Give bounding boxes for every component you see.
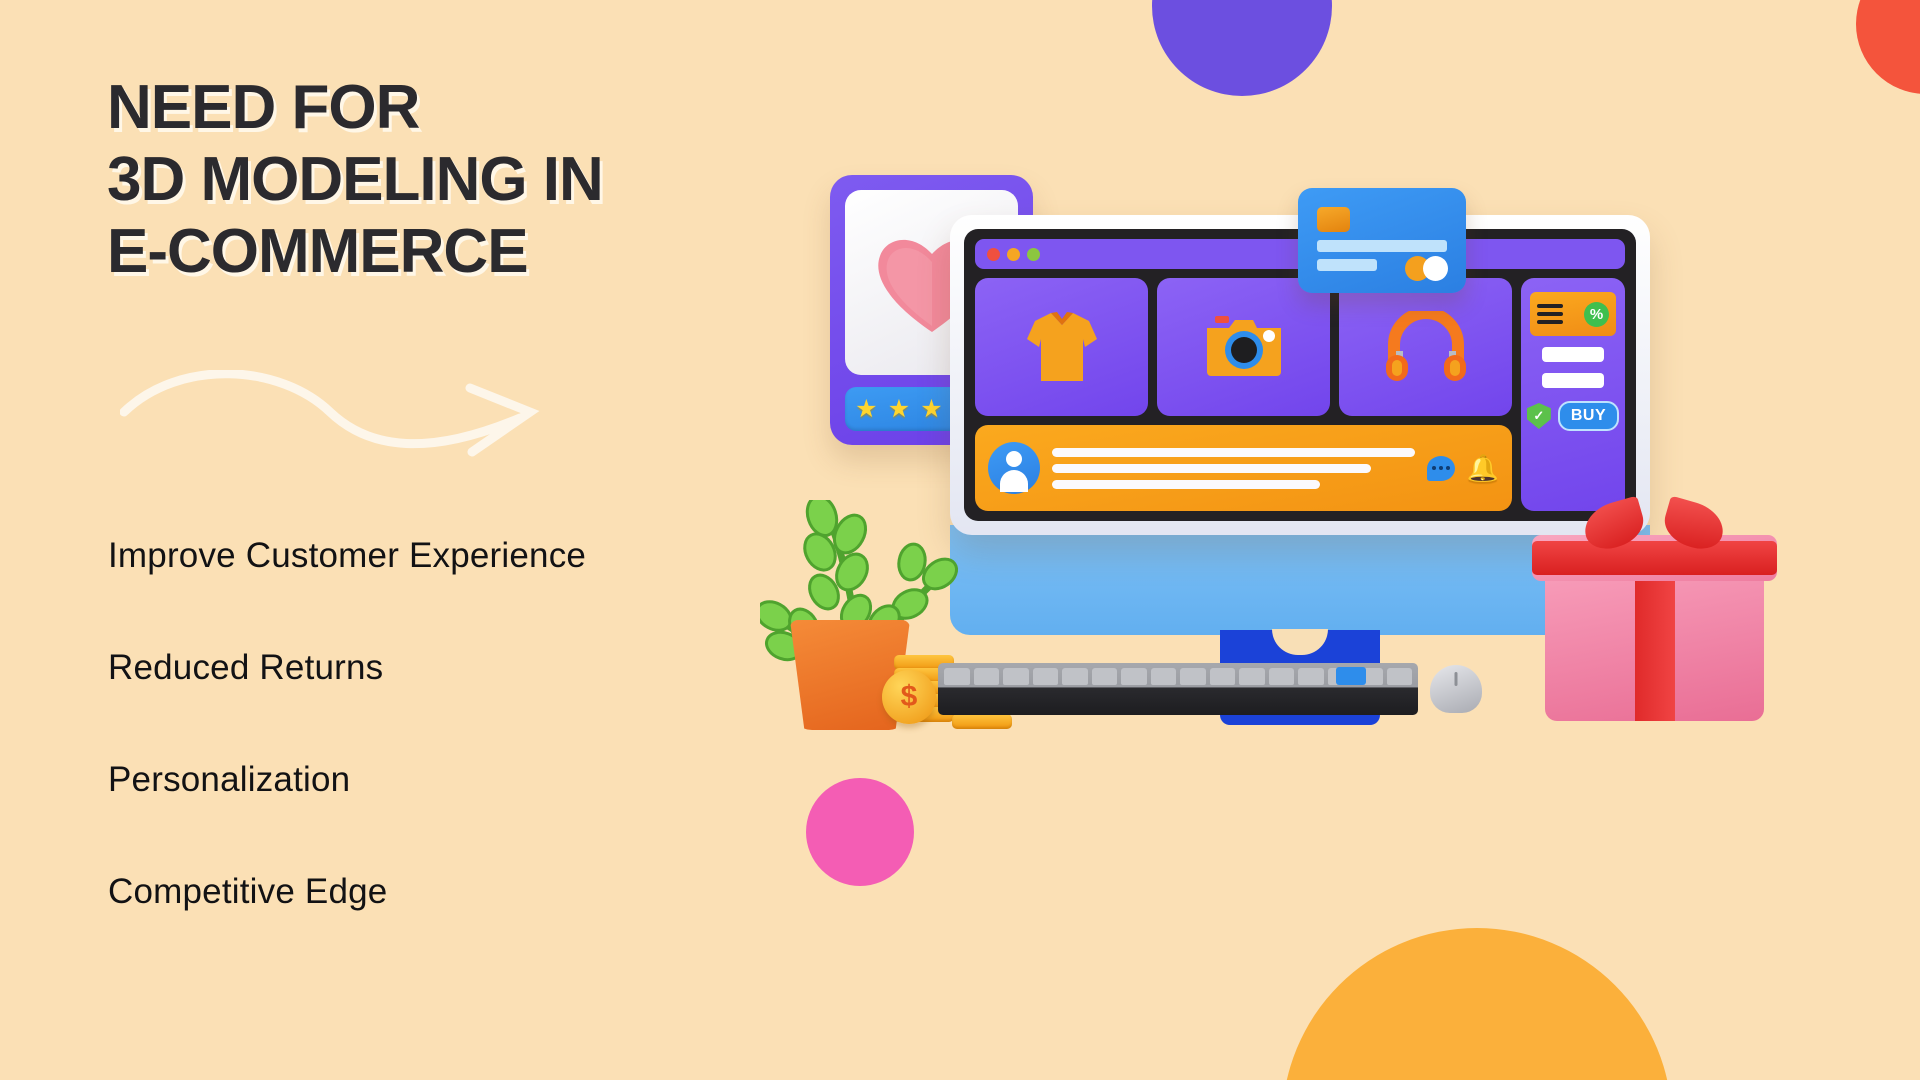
screen-main-column: 🔔 <box>975 278 1512 511</box>
headphones-tile[interactable] <box>1339 278 1512 416</box>
gift-box <box>1532 505 1777 720</box>
close-dot-icon[interactable] <box>987 248 1000 261</box>
placeholder-bar <box>1542 347 1604 362</box>
headline-line-2: 3D MODELING IN <box>107 144 603 216</box>
star-icon: ★ <box>888 397 910 422</box>
card-chip-icon <box>1317 207 1350 232</box>
star-icon: ★ <box>855 397 877 422</box>
tshirt-tile[interactable] <box>975 278 1148 416</box>
dollar-coin-icon: $ <box>882 670 936 724</box>
coupon-icon[interactable]: % <box>1530 292 1616 336</box>
card-logo-circle <box>1423 256 1448 281</box>
chat-bubble-icon[interactable] <box>1427 456 1455 481</box>
comment-line <box>1052 464 1371 473</box>
bell-icon[interactable]: 🔔 <box>1467 455 1499 481</box>
camera-tile[interactable] <box>1157 278 1330 416</box>
credit-card <box>1298 188 1466 293</box>
list-item: Competitive Edge <box>108 871 748 913</box>
verified-shield-icon: ✓ <box>1527 403 1551 429</box>
benefit-list: Improve Customer Experience Reduced Retu… <box>108 535 748 913</box>
comment-line <box>1052 448 1415 457</box>
coin <box>952 714 1012 729</box>
camera-icon <box>1203 314 1285 380</box>
comment-text-lines <box>1052 448 1415 489</box>
coupon-lines <box>1537 304 1563 324</box>
screen-body: 🔔 % ✓ BU <box>975 278 1625 511</box>
buy-button[interactable]: BUY <box>1558 401 1619 431</box>
discount-badge: % <box>1584 302 1609 327</box>
product-grid <box>975 278 1512 416</box>
list-item: Reduced Returns <box>108 647 748 689</box>
slide-canvas: NEED FOR 3D MODELING IN E-COMMERCE Impro… <box>0 0 1920 1080</box>
headline-line-1: NEED FOR <box>107 72 603 144</box>
tshirt-icon <box>1025 309 1099 385</box>
avatar <box>988 442 1040 494</box>
minimize-dot-icon[interactable] <box>1007 248 1020 261</box>
card-stripe <box>1317 259 1377 271</box>
maximize-dot-icon[interactable] <box>1027 248 1040 261</box>
page-title: NEED FOR 3D MODELING IN E-COMMERCE <box>107 72 603 288</box>
buy-row: ✓ BUY <box>1527 401 1619 431</box>
comment-bar: 🔔 <box>975 425 1512 511</box>
headphones-icon <box>1384 311 1468 383</box>
list-item: Personalization <box>108 759 748 801</box>
star-icon: ★ <box>920 397 942 422</box>
card-stripe <box>1317 240 1447 252</box>
mouse <box>1430 665 1482 713</box>
ecommerce-3d-illustration: ★ ★ ★ ★ ★ <box>790 0 1920 1080</box>
gift-ribbon-horizontal <box>1532 541 1777 575</box>
highlighted-key <box>1336 667 1366 685</box>
headline-line-3: E-COMMERCE <box>107 216 603 288</box>
placeholder-bar <box>1542 373 1604 388</box>
curved-arrow-icon <box>120 370 560 480</box>
comment-line <box>1052 480 1320 489</box>
screen-sidebar: % ✓ BUY <box>1521 278 1625 511</box>
keyboard <box>938 663 1418 715</box>
list-item: Improve Customer Experience <box>108 535 748 577</box>
